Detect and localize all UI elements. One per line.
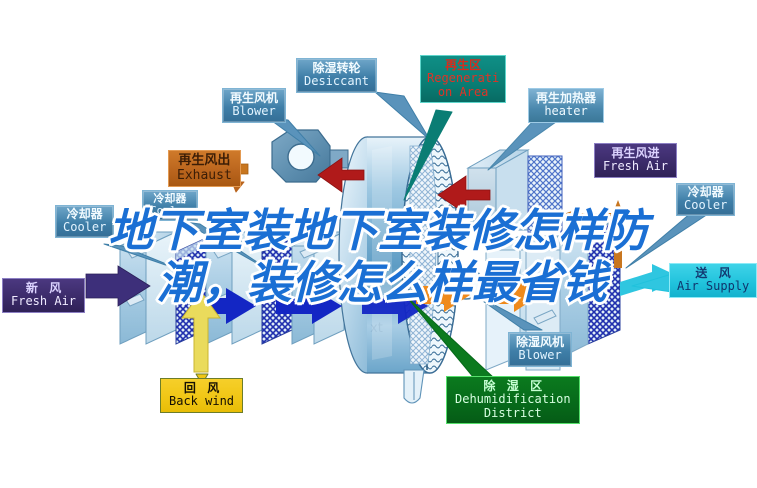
diagram-canvas: xt bbox=[0, 0, 757, 488]
label-regeneration-area-en1: Regenerati bbox=[427, 72, 499, 85]
label-regeneration-exhaust-cn: 再生风出 bbox=[177, 154, 232, 169]
watermark-line-1: 地下室装地下室装修怎样防 bbox=[108, 205, 656, 257]
label-desiccant-wheel-cn: 除湿转轮 bbox=[304, 62, 369, 75]
label-cooler-right-cn: 冷却器 bbox=[684, 186, 727, 199]
label-cooler-right-en: Cooler bbox=[684, 199, 727, 212]
label-desiccant-wheel: 除湿转轮 Desiccant bbox=[296, 58, 377, 93]
label-back-wind: 回 风 Back wind bbox=[160, 378, 243, 413]
label-desiccant-wheel-en: Desiccant bbox=[304, 75, 369, 88]
rotor-drain bbox=[404, 370, 424, 403]
label-regeneration-exhaust-en: Exhaust bbox=[177, 169, 232, 184]
label-dehumidification-blower-cn: 除湿风机 bbox=[516, 336, 564, 349]
label-air-supply-en: Air Supply bbox=[677, 280, 749, 293]
label-regeneration-heater-cn: 再生加热器 bbox=[536, 92, 596, 105]
label-fresh-air-in-cn: 新 风 bbox=[11, 282, 76, 295]
label-regeneration-fresh-air-in: 再生风进 Fresh Air bbox=[594, 143, 677, 178]
label-dehumidification-district-en2: District bbox=[455, 407, 571, 420]
label-regeneration-heater-en: heater bbox=[536, 105, 596, 118]
label-regeneration-blower-en: Blower bbox=[230, 105, 278, 118]
label-regeneration-area-cn: 再生区 bbox=[427, 59, 499, 72]
label-regeneration-heater: 再生加热器 heater bbox=[528, 88, 604, 123]
label-back-wind-en: Back wind bbox=[169, 395, 234, 408]
label-dehumidification-blower-en: Blower bbox=[516, 349, 564, 362]
label-dehumidification-district: 除 湿 区 Dehumidification District bbox=[446, 376, 580, 424]
label-fresh-air-in: 新 风 Fresh Air bbox=[2, 278, 85, 313]
watermark-overlay-text: 地下室装地下室装修怎样防 潮，装修怎么样最省钱 bbox=[108, 205, 656, 309]
label-air-supply-cn: 送 风 bbox=[677, 267, 749, 280]
label-cooler-left-en: Cooler bbox=[63, 221, 106, 234]
label-dehumidification-blower: 除湿风机 Blower bbox=[508, 332, 572, 367]
label-air-supply: 送 风 Air Supply bbox=[669, 263, 757, 298]
label-dehumidification-district-cn: 除 湿 区 bbox=[455, 380, 571, 393]
label-regeneration-area: 再生区 Regenerati on Area bbox=[420, 55, 506, 103]
label-back-wind-cn: 回 风 bbox=[169, 382, 234, 395]
label-regeneration-fresh-air-in-cn: 再生风进 bbox=[603, 147, 668, 160]
label-cooler-right: 冷却器 Cooler bbox=[676, 183, 735, 216]
label-regeneration-blower: 再生风机 Blower bbox=[222, 88, 286, 123]
label-regeneration-exhaust: 再生风出 Exhaust bbox=[168, 150, 241, 187]
label-cooler-left-cn: 冷却器 bbox=[63, 208, 106, 221]
label-cooler-left: 冷却器 Cooler bbox=[55, 205, 114, 238]
label-regeneration-fresh-air-in-en: Fresh Air bbox=[603, 160, 668, 173]
label-regeneration-area-en2: on Area bbox=[427, 86, 499, 99]
label-fresh-air-in-en: Fresh Air bbox=[11, 295, 76, 308]
label-regeneration-blower-cn: 再生风机 bbox=[230, 92, 278, 105]
watermark-line-2: 潮，装修怎么样最省钱 bbox=[108, 257, 656, 309]
label-dehumidification-district-en1: Dehumidification bbox=[455, 393, 571, 406]
